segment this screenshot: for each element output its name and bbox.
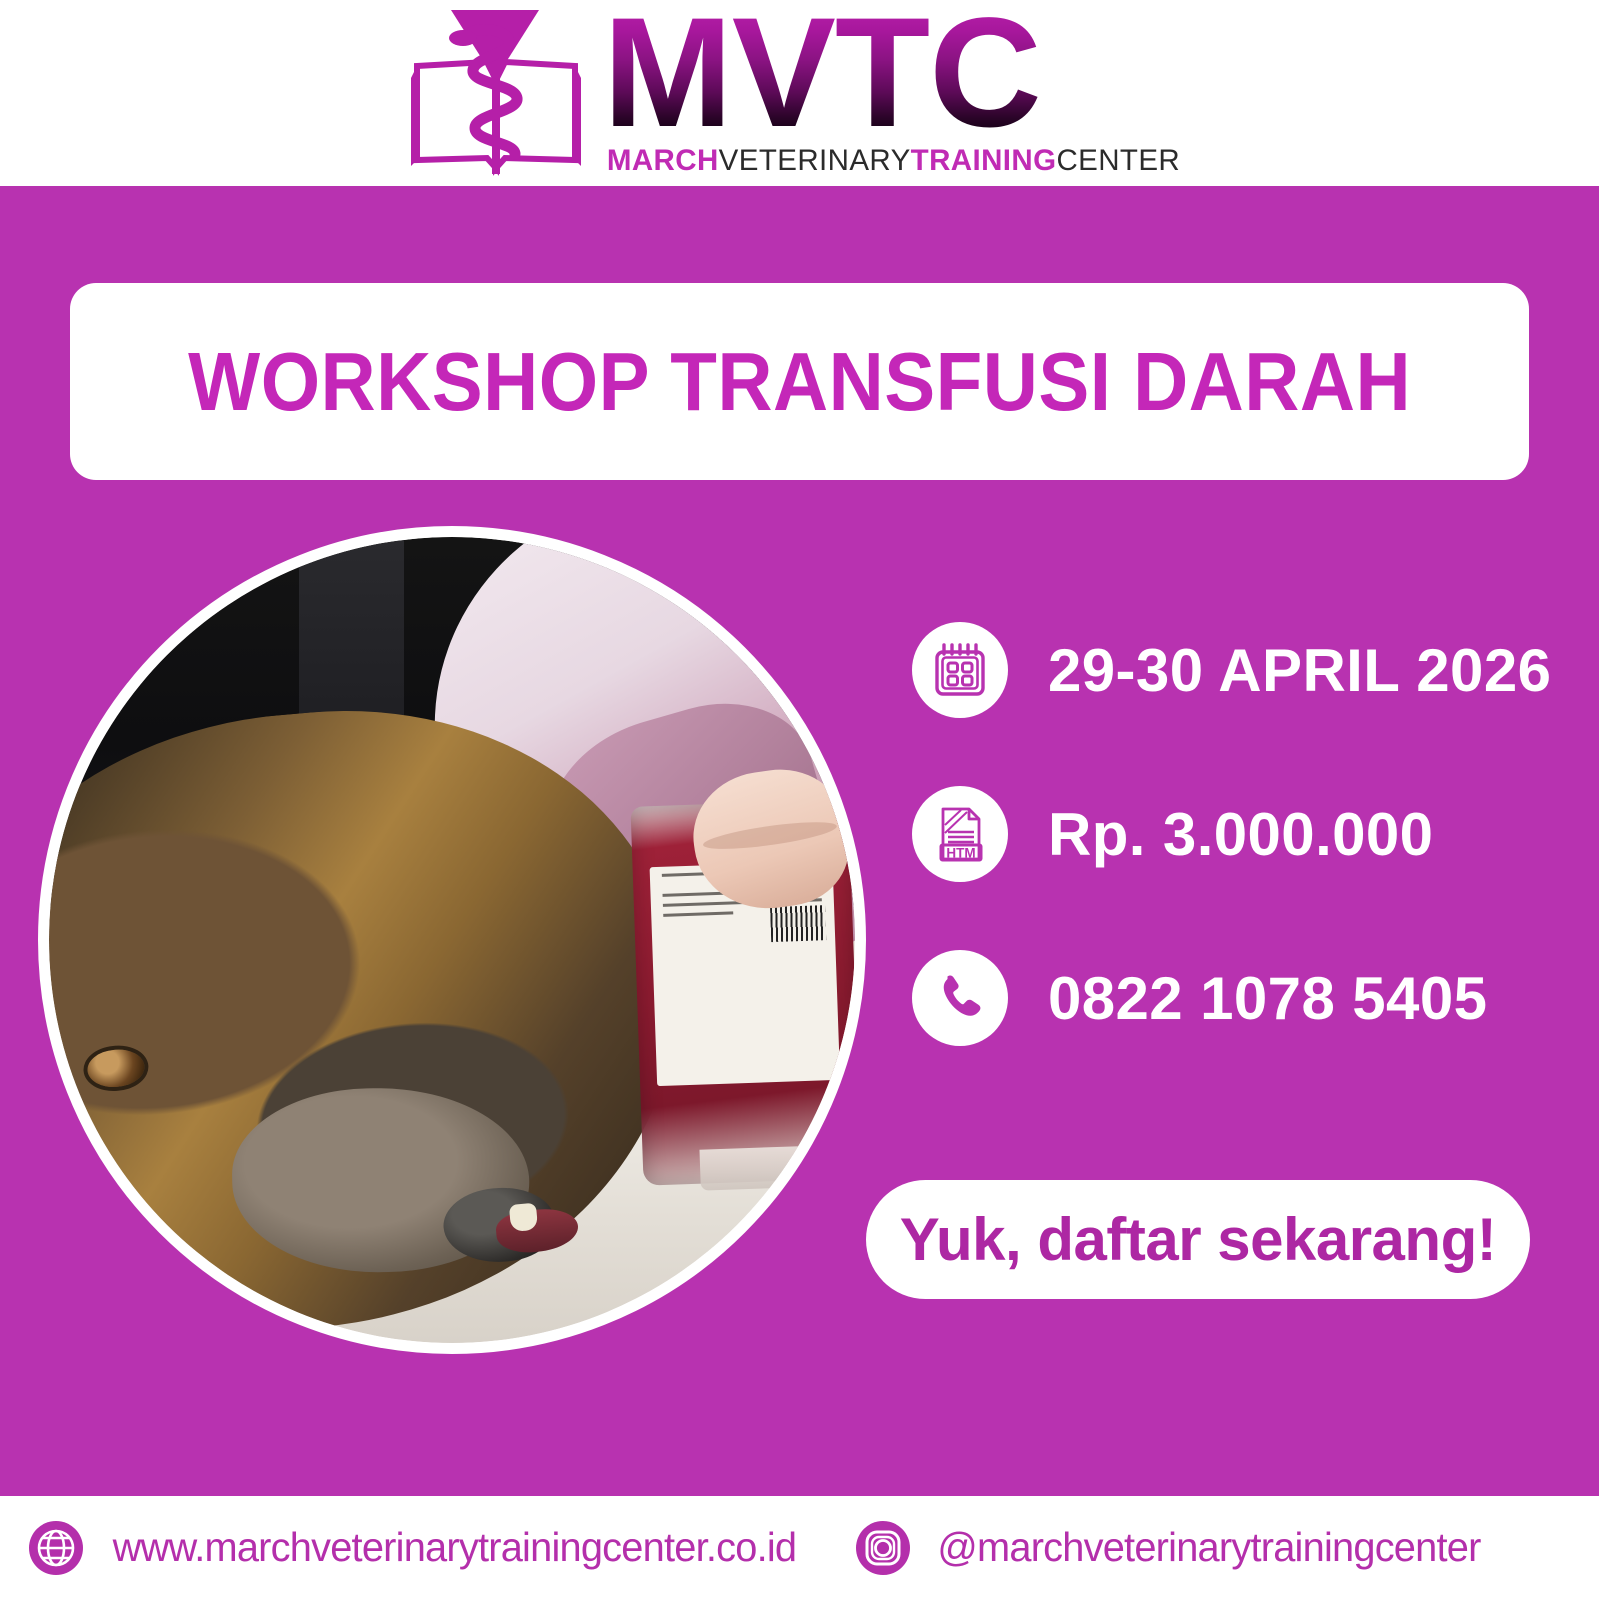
photo-barcode (771, 905, 827, 942)
photo-blood-bag-port (699, 1146, 800, 1191)
footer-website-label: www.marchveterinarytrainingcenter.co.id (113, 1524, 797, 1571)
footer-website[interactable]: www.marchveterinarytrainingcenter.co.id (26, 1518, 807, 1578)
info-phone-label: 0822 1078 5405 (1048, 964, 1487, 1033)
tagline-part-training: TRAINING (911, 144, 1057, 177)
svg-text:HTM: HTM (946, 846, 975, 861)
page-title: WORKSHOP TRANSFUSI DARAH (188, 334, 1411, 430)
register-cta-button[interactable]: Yuk, daftar sekarang! (866, 1180, 1530, 1299)
logo-tagline: MARCHVETERINARYTRAININGCENTER (607, 144, 1180, 178)
phone-badge[interactable] (912, 950, 1008, 1046)
photo-dog-eye-upper (86, 1047, 145, 1090)
caduceus-book-icon (403, 8, 589, 180)
tagline-part-center: CENTER (1056, 144, 1180, 177)
info-date-label: 29-30 APRIL 2026 (1048, 636, 1551, 705)
title-card: WORKSHOP TRANSFUSI DARAH (70, 283, 1529, 480)
main-body: WORKSHOP TRANSFUSI DARAH (0, 186, 1599, 1496)
tagline-part-veterinary: VETERINARY (719, 144, 911, 177)
footer-instagram[interactable]: @marchveterinarytrainingcenter (853, 1518, 1489, 1578)
info-row-phone: 0822 1078 5405 (912, 944, 1532, 1052)
instagram-icon (853, 1518, 913, 1578)
photo-dog-eye-lower (49, 1164, 74, 1207)
brand-logo: MVTC MARCHVETERINARYTRAININGCENTER (403, 6, 1180, 180)
info-row-date: 29-30 APRIL 2026 (912, 616, 1532, 724)
globe-icon (26, 1518, 86, 1578)
register-cta-label: Yuk, daftar sekarang! (900, 1205, 1496, 1274)
htm-badge: HTM (912, 786, 1008, 882)
info-row-price: HTM Rp. 3.000.000 (912, 780, 1532, 888)
calendar-icon (929, 639, 991, 701)
htm-document-icon: HTM (929, 803, 991, 865)
logo-acronym: MVTC (603, 8, 1041, 139)
phone-icon (931, 969, 989, 1027)
logo-text-block: MVTC MARCHVETERINARYTRAININGCENTER (603, 8, 1180, 178)
footer-instagram-label: @marchveterinarytrainingcenter (937, 1524, 1480, 1571)
tagline-part-march: MARCH (607, 144, 719, 177)
hero-photo (38, 526, 866, 1354)
info-price-label: Rp. 3.000.000 (1048, 800, 1433, 869)
calendar-badge (912, 622, 1008, 718)
footer-contact-band: www.marchveterinarytrainingcenter.co.id … (0, 1496, 1599, 1599)
event-details-list: 29-30 APRIL 2026 (912, 616, 1532, 1108)
header-logo-band: MVTC MARCHVETERINARYTRAININGCENTER (0, 0, 1599, 186)
hero-photo-image (49, 537, 855, 1343)
poster-root: MVTC MARCHVETERINARYTRAININGCENTER WORKS… (0, 0, 1599, 1599)
